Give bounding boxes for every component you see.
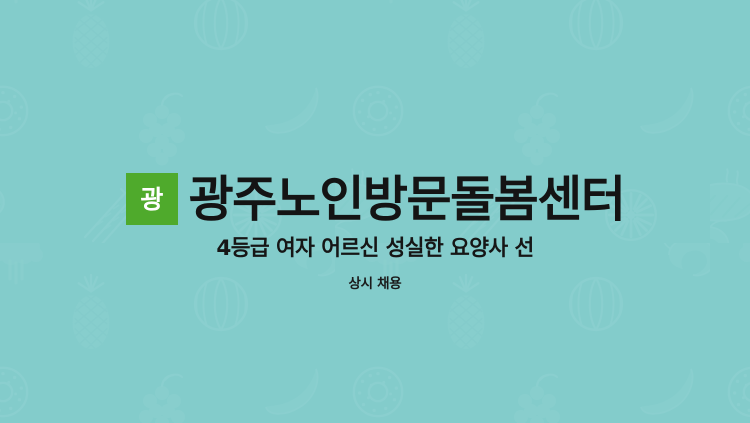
job-posting-poster: 광 광주노인방문돌봄센터 4등급 여자 어르신 성실한 요양사 선 상시 채용 (0, 0, 750, 423)
brand-badge: 광 (126, 173, 178, 225)
page-title: 광주노인방문돌봄센터 (189, 175, 625, 224)
job-subtitle: 4등급 여자 어르신 성실한 요양사 선 (0, 236, 750, 263)
brand-badge-label: 광 (140, 187, 163, 212)
recruitment-status-text: 상시 채용 (0, 276, 750, 293)
